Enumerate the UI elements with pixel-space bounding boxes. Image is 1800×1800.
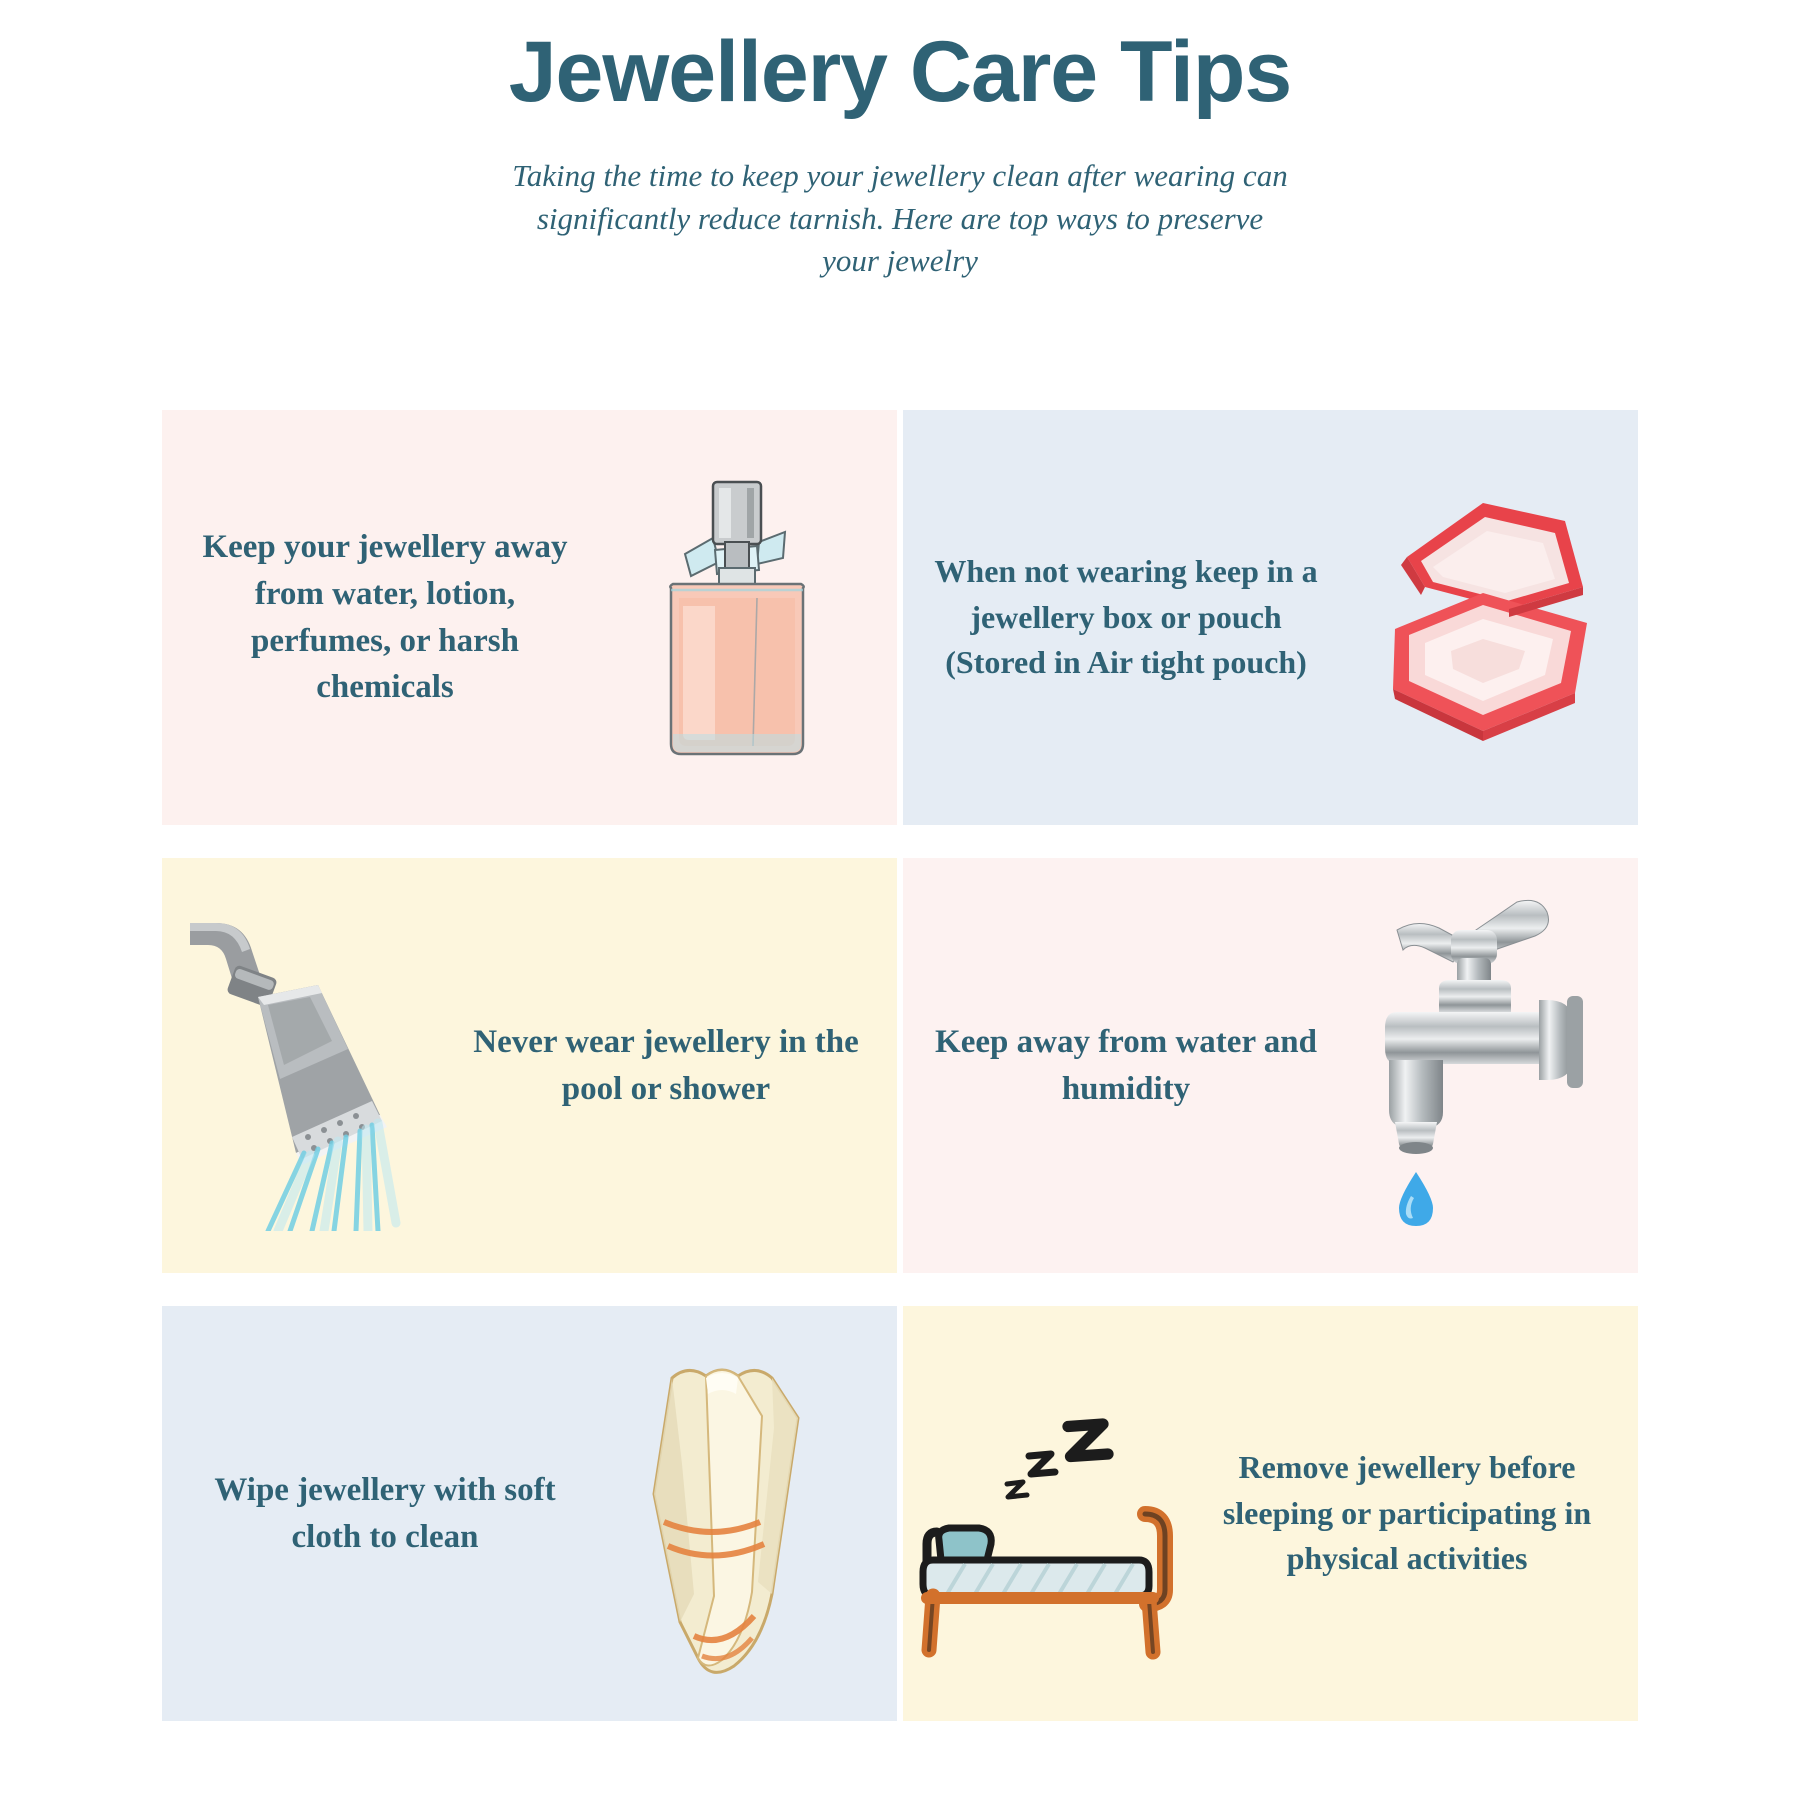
tip-card-text: Wipe jewellery with soft cloth to clean: [162, 1467, 582, 1561]
tip-card-remove-before-sleep: Remove jewellery before sleeping or part…: [903, 1306, 1638, 1754]
tip-card-store-in-box: When not wearing keep in a jewellery box…: [903, 410, 1638, 858]
tip-card-no-pool-shower: Never wear jewellery in the pool or show…: [162, 858, 897, 1306]
faucet-icon: [1323, 858, 1623, 1273]
page-title: Jewellery Care Tips: [0, 26, 1800, 119]
infographic-page: Jewellery Care Tips Taking the time to k…: [0, 0, 1800, 1800]
perfume-bottle-icon: [582, 410, 882, 825]
tips-grid: Keep your jewellery away from water, lot…: [162, 410, 1638, 1745]
tip-card-avoid-humidity: Keep away from water and humidity: [903, 858, 1638, 1306]
bed-sleeping-icon: [903, 1306, 1203, 1721]
tip-card-text: Keep away from water and humidity: [903, 1019, 1323, 1113]
tip-card-text: Never wear jewellery in the pool or show…: [462, 1019, 892, 1113]
tip-card-avoid-chemicals: Keep your jewellery away from water, lot…: [162, 410, 897, 858]
tip-card-text: When not wearing keep in a jewellery box…: [903, 549, 1323, 685]
tip-card-text: Keep your jewellery away from water, lot…: [162, 524, 582, 711]
tip-card-wipe-with-cloth: Wipe jewellery with soft cloth to clean: [162, 1306, 897, 1754]
shower-head-icon: [162, 858, 462, 1273]
header: Jewellery Care Tips Taking the time to k…: [0, 26, 1800, 283]
page-subtitle: Taking the time to keep your jewellery c…: [505, 155, 1295, 283]
tip-card-text: Remove jewellery before sleeping or part…: [1203, 1445, 1633, 1581]
polishing-cloth-icon: [582, 1306, 882, 1721]
jewellery-box-icon: [1323, 410, 1623, 825]
